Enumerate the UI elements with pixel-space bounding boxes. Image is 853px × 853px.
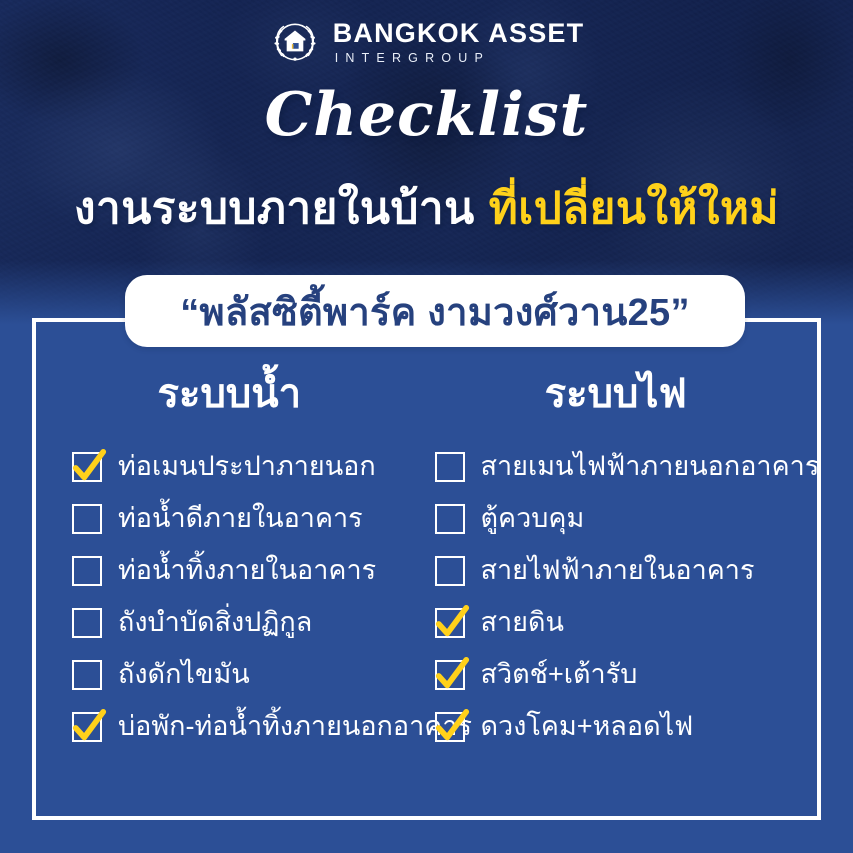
list-item[interactable]: ท่อน้ำทิ้งภายในอาคาร — [72, 554, 427, 588]
checkbox-unchecked[interactable] — [435, 556, 465, 586]
list-item-label: สายดิน — [481, 607, 564, 638]
brand-name: BANGKOK ASSET — [333, 20, 585, 47]
checklist-panel: ระบบน้ำ ท่อเมนประปาภายนอก — [32, 318, 821, 820]
list-item-label: ท่อน้ำดีภายในอาคาร — [118, 503, 363, 534]
page-subtitle-white: งานระบบภายในบ้าน — [74, 184, 475, 233]
list-item-label: ถังดักไขมัน — [118, 659, 250, 690]
project-name-text: “พลัสซิตี้พาร์ค งามวงศ์วาน25” — [180, 281, 690, 342]
list-item-label: สายเมนไฟฟ้าภายนอกอาคาร — [481, 451, 820, 482]
column-heading-electric: ระบบไฟ — [427, 374, 798, 414]
list-item[interactable]: ดวงโคม+หลอดไฟ — [435, 710, 798, 744]
checkmark-icon — [433, 655, 471, 695]
checkbox-unchecked[interactable] — [72, 556, 102, 586]
checkbox-unchecked[interactable] — [435, 504, 465, 534]
checkmark-icon — [433, 707, 471, 747]
list-item-label: ดวงโคม+หลอดไฟ — [481, 711, 694, 742]
brand-subname: INTERGROUP — [333, 52, 585, 65]
brand-lockup: BANGKOK ASSET INTERGROUP — [0, 16, 853, 68]
checklist-columns: ระบบน้ำ ท่อเมนประปาภายนอก — [56, 374, 797, 744]
checklist-items-water: ท่อเมนประปาภายนอก ท่อน้ำดีภายในอาคาร ท่อ… — [56, 450, 427, 744]
list-item[interactable]: สายไฟฟ้าภายในอาคาร — [435, 554, 798, 588]
list-item[interactable]: สวิตช์+เต้ารับ — [435, 658, 798, 692]
list-item-label: บ่อพัก-ท่อน้ำทิ้งภายนอกอาคาร — [118, 711, 472, 742]
project-name-banner: “พลัสซิตี้พาร์ค งามวงศ์วาน25” — [125, 275, 745, 347]
list-item-label: สวิตช์+เต้ารับ — [481, 659, 638, 690]
list-item[interactable]: ตู้ควบคุม — [435, 502, 798, 536]
checkbox-unchecked[interactable] — [72, 608, 102, 638]
checklist-poster: BANGKOK ASSET INTERGROUP Checklist งานระ… — [0, 0, 853, 853]
page-subtitle: งานระบบภายในบ้านที่เปลี่ยนให้ใหม่ — [0, 173, 853, 243]
checkbox-checked[interactable] — [72, 712, 102, 742]
checklist-column-electric: ระบบไฟ สายเมนไฟฟ้าภายนอกอาคาร ตู้ควบคุม — [427, 374, 798, 744]
page-subtitle-yellow: ที่เปลี่ยนให้ใหม่ — [489, 184, 779, 233]
column-heading-water: ระบบน้ำ — [56, 374, 427, 414]
list-item[interactable]: ถังดักไขมัน — [72, 658, 427, 692]
bangkok-asset-crest-icon — [269, 16, 321, 68]
list-item[interactable]: สายเมนไฟฟ้าภายนอกอาคาร — [435, 450, 798, 484]
checkmark-icon — [433, 603, 471, 643]
page-title: Checklist — [0, 80, 853, 150]
checkbox-unchecked[interactable] — [72, 660, 102, 690]
checkbox-checked[interactable] — [435, 660, 465, 690]
list-item-label: ถังบำบัดสิ่งปฏิกูล — [118, 607, 312, 638]
list-item[interactable]: ท่อเมนประปาภายนอก — [72, 450, 427, 484]
checkmark-icon — [70, 447, 108, 487]
list-item[interactable]: ท่อน้ำดีภายในอาคาร — [72, 502, 427, 536]
page-title-text: Checklist — [265, 80, 589, 150]
checkbox-checked[interactable] — [72, 452, 102, 482]
list-item-label: สายไฟฟ้าภายในอาคาร — [481, 555, 755, 586]
checkbox-unchecked[interactable] — [72, 504, 102, 534]
list-item-label: ท่อเมนประปาภายนอก — [118, 451, 376, 482]
checklist-column-water: ระบบน้ำ ท่อเมนประปาภายนอก — [56, 374, 427, 744]
brand-text: BANGKOK ASSET INTERGROUP — [333, 20, 585, 65]
checkbox-checked[interactable] — [435, 712, 465, 742]
list-item[interactable]: สายดิน — [435, 606, 798, 640]
list-item-label: ตู้ควบคุม — [481, 503, 585, 534]
checkmark-icon — [70, 707, 108, 747]
checkbox-unchecked[interactable] — [435, 452, 465, 482]
list-item[interactable]: บ่อพัก-ท่อน้ำทิ้งภายนอกอาคาร — [72, 710, 427, 744]
list-item-label: ท่อน้ำทิ้งภายในอาคาร — [118, 555, 376, 586]
checklist-items-electric: สายเมนไฟฟ้าภายนอกอาคาร ตู้ควบคุม สายไฟฟ้… — [427, 450, 798, 744]
checkbox-checked[interactable] — [435, 608, 465, 638]
list-item[interactable]: ถังบำบัดสิ่งปฏิกูล — [72, 606, 427, 640]
